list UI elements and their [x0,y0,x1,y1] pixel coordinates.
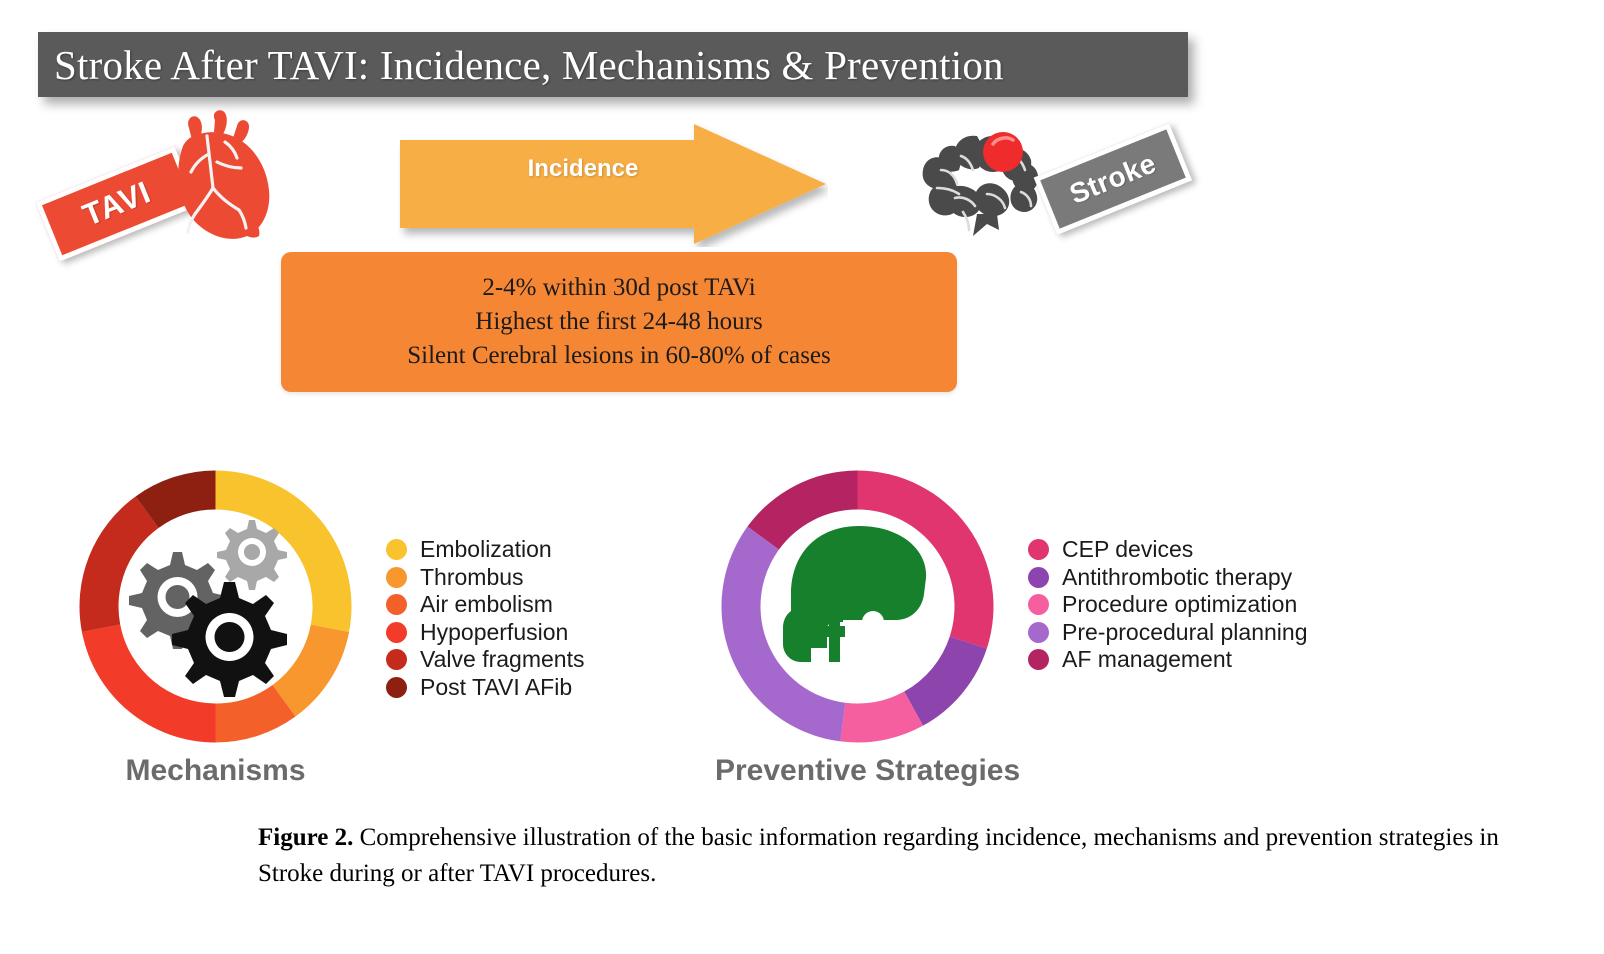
legend-color-swatch [386,677,407,698]
legend-item: Hypoperfusion [386,619,584,647]
legend-item: Air embolism [386,591,584,619]
legend-label: AF management [1062,646,1232,673]
legend-label: Procedure optimization [1062,591,1297,618]
legend-item: Post TAVI AFib [386,674,584,702]
incidence-stats-box: 2-4% within 30d post TAVi Highest the fi… [281,252,957,392]
mechanisms-legend: EmbolizationThrombusAir embolismHypoperf… [386,536,584,701]
brain-icon [915,126,1055,241]
legend-color-swatch [1028,649,1049,670]
legend-item: CEP devices [1028,536,1308,564]
legend-color-swatch [386,594,407,615]
legend-label: Thrombus [420,564,524,591]
figure-caption-text: Comprehensive illustration of the basic … [258,824,1499,887]
preventive-title: Preventive Strategies [715,754,1000,788]
legend-label: Embolization [420,536,552,563]
legend-color-swatch [1028,622,1049,643]
stats-line-2: Highest the first 24-48 hours [475,305,762,339]
legend-color-swatch [386,649,407,670]
legend-label: CEP devices [1062,536,1193,563]
incidence-arrow [398,122,828,247]
legend-label: Hypoperfusion [420,619,568,646]
stroke-tag: Stroke [1034,123,1193,235]
legend-item: Pre-procedural planning [1028,619,1308,647]
stats-line-3: Silent Cerebral lesions in 60-80% of cas… [407,339,831,373]
legend-color-swatch [386,539,407,560]
helmet-icon [777,522,942,672]
legend-color-swatch [1028,594,1049,615]
legend-label: Post TAVI AFib [420,674,572,701]
figure-title-bar: Stroke After TAVI: Incidence, Mechanisms… [38,32,1188,97]
stroke-tag-label: Stroke [1065,147,1161,210]
legend-label: Valve fragments [420,646,584,673]
legend-color-swatch [386,622,407,643]
legend-label: Antithrombotic therapy [1062,564,1292,591]
tavi-tag-label: TAVI [78,174,156,234]
legend-color-swatch [1028,539,1049,560]
legend-label: Air embolism [420,591,553,618]
legend-color-swatch [1028,567,1049,588]
mechanisms-donut-panel: Mechanisms [73,464,358,749]
figure-caption-label: Figure 2. [258,824,353,851]
figure-canvas: Stroke After TAVI: Incidence, Mechanisms… [0,0,1604,954]
legend-item: Valve fragments [386,646,584,674]
legend-color-swatch [386,567,407,588]
page-title: Stroke After TAVI: Incidence, Mechanisms… [38,41,1004,89]
legend-item: Procedure optimization [1028,591,1308,619]
preventive-legend: CEP devicesAntithrombotic therapyProcedu… [1028,536,1308,674]
preventive-donut-panel: Preventive Strategies [715,464,1000,749]
stats-line-1: 2-4% within 30d post TAVi [482,271,755,305]
legend-label: Pre-procedural planning [1062,619,1308,646]
legend-item: Thrombus [386,564,584,592]
heart-icon [155,110,275,250]
legend-item: Embolization [386,536,584,564]
figure-caption: Figure 2. Comprehensive illustration of … [258,820,1518,893]
legend-item: AF management [1028,646,1308,674]
mechanisms-title: Mechanisms [73,754,358,788]
legend-item: Antithrombotic therapy [1028,564,1308,592]
gears-icon [121,514,311,699]
